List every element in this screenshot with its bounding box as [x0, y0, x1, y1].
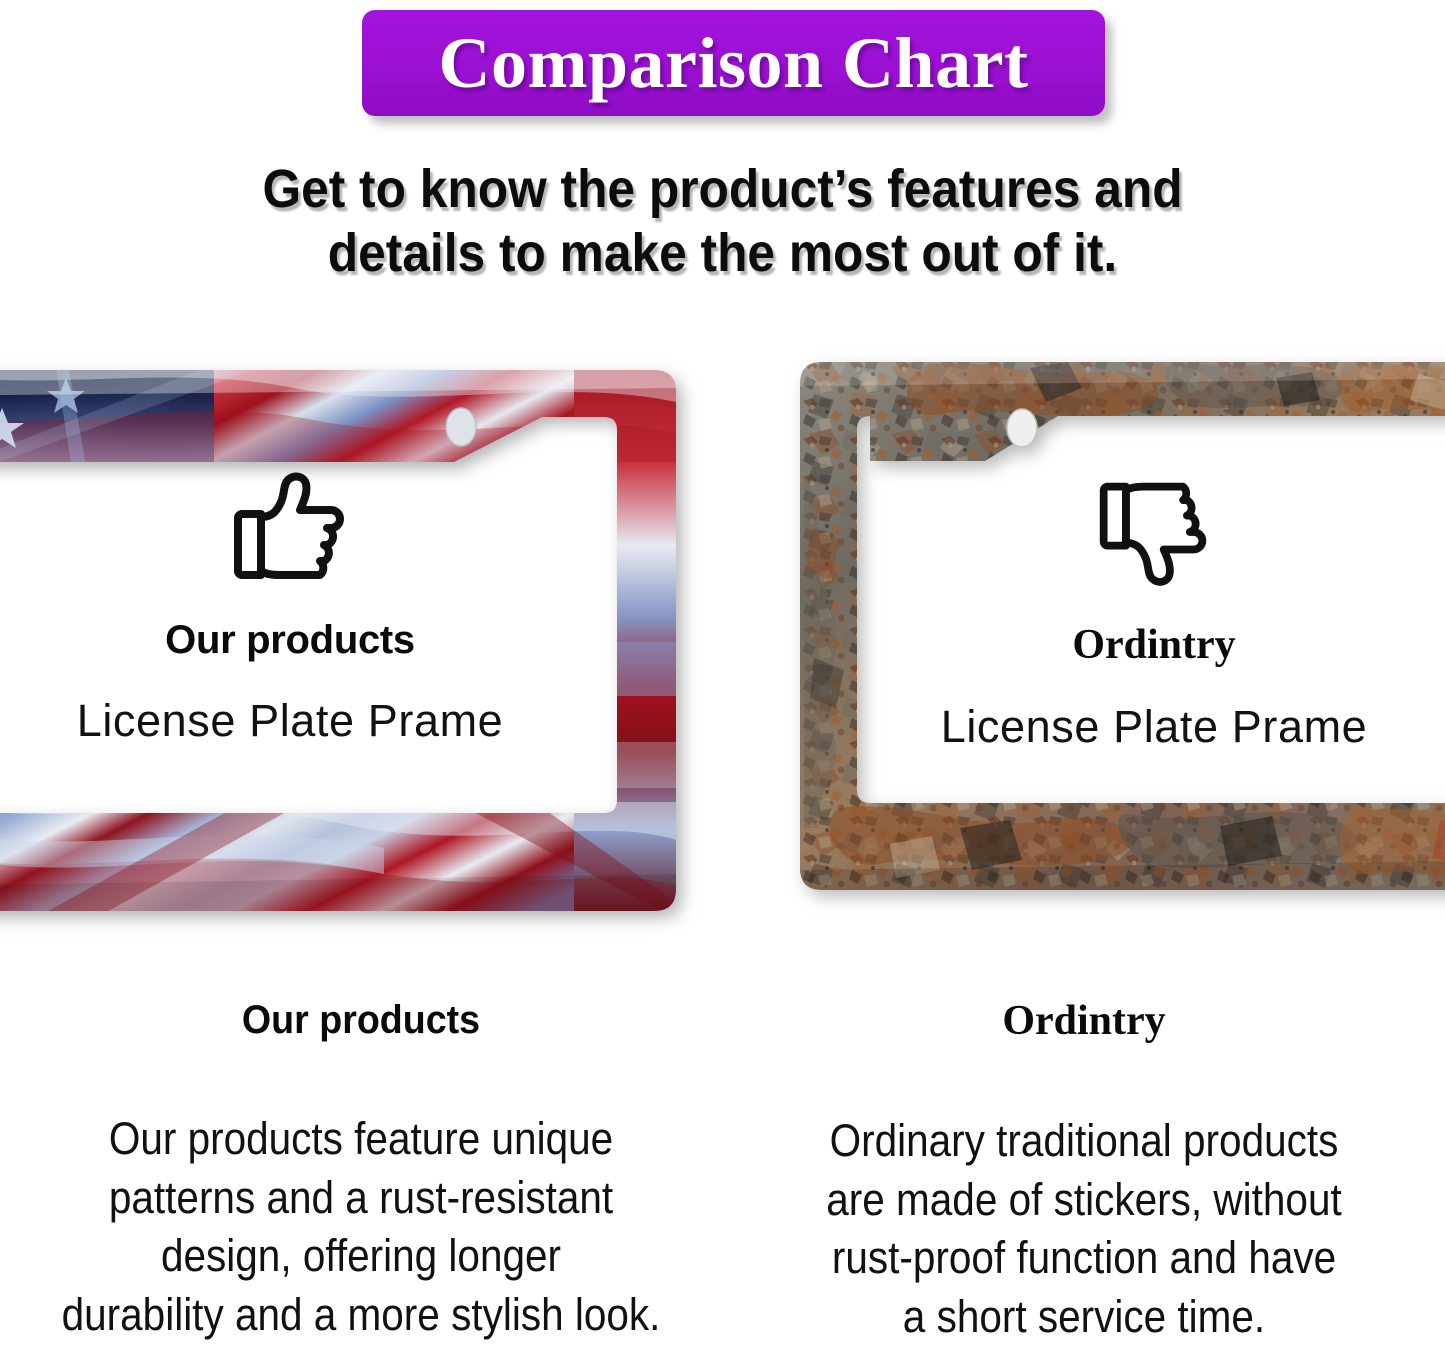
comparison-left-line-4: durability and a more stylish look.	[36, 1286, 686, 1345]
subtitle-line-1: Get to know the product’s features and	[58, 158, 1387, 222]
comparison-left-line-3: design, offering longer	[36, 1227, 686, 1286]
page-title: Comparison Chart	[438, 27, 1028, 99]
product-image-our-products	[0, 362, 676, 919]
subtitle-line-2: details to make the most out of it.	[58, 222, 1387, 286]
license-plate-frame-rust	[800, 358, 1445, 898]
comparison-column-our-products: Our products Our products feature unique…	[0, 1000, 722, 1344]
comparison-heading-ordintry: Ordintry	[723, 1000, 1445, 1042]
comparison-chart-banner: Comparison Chart	[362, 10, 1105, 116]
comparison-heading-our-products: Our products	[22, 1000, 701, 1040]
comparison-right-line-4: a short service time.	[759, 1288, 1409, 1346]
comparison-right-line-3: rust-proof function and have	[759, 1229, 1409, 1288]
comparison-left-line-2: patterns and a rust-resistant	[36, 1169, 686, 1228]
license-plate-frame-flag	[0, 362, 676, 919]
comparison-left-line-1: Our products feature unique	[36, 1110, 686, 1169]
product-image-ordintry	[800, 358, 1445, 898]
comparison-body-ordintry: Ordinary traditional products are made o…	[759, 1112, 1409, 1346]
comparison-column-ordintry: Ordintry Ordinary traditional products a…	[723, 1000, 1445, 1346]
comparison-right-line-1: Ordinary traditional products	[759, 1112, 1409, 1171]
comparison-body-our-products: Our products feature unique patterns and…	[36, 1110, 686, 1344]
comparison-right-line-2: are made of stickers, without	[759, 1171, 1409, 1230]
subtitle: Get to know the product’s features and d…	[58, 158, 1387, 285]
